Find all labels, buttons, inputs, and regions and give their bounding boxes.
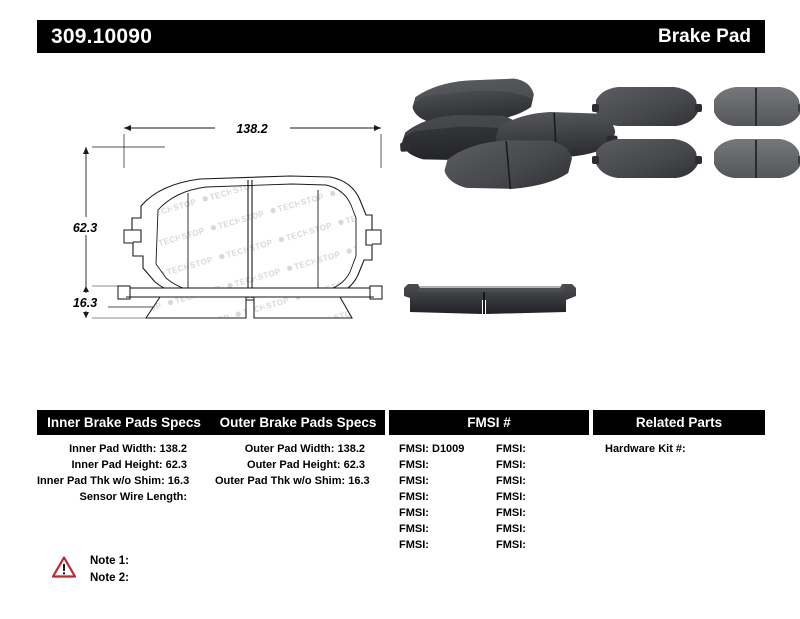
spec-row: Outer Pad Width: 138.2 bbox=[215, 441, 389, 457]
fmsi-subcolumn-2: FMSI: FMSI: FMSI: FMSI: FMSI: FMSI: FMSI… bbox=[496, 441, 593, 553]
column-related-parts: Hardware Kit #: bbox=[597, 441, 765, 553]
fmsi-row: FMSI: bbox=[399, 489, 496, 505]
fmsi-row: FMSI: bbox=[399, 521, 496, 537]
product-photo-angled bbox=[398, 74, 618, 195]
fmsi-row: FMSI: bbox=[399, 505, 496, 521]
header-inner-specs: Inner Brake Pads Specs bbox=[37, 415, 211, 430]
fmsi-row: FMSI: bbox=[399, 537, 496, 553]
spec-row: Inner Pad Height: 62.3 bbox=[37, 457, 211, 473]
fmsi-row: FMSI: bbox=[496, 521, 593, 537]
pad-face-drawing bbox=[124, 176, 381, 307]
width-dimension-label: 138.2 bbox=[236, 122, 267, 136]
fmsi-row: FMSI: D1009 bbox=[399, 441, 496, 457]
product-photo-flat-grid bbox=[592, 87, 800, 178]
specifications-table: Inner Brake Pads Specs Outer Brake Pads … bbox=[37, 410, 765, 553]
table-header-row: Inner Brake Pads Specs Outer Brake Pads … bbox=[37, 410, 765, 435]
header-related-parts: Related Parts bbox=[593, 410, 765, 435]
height-dimension-label: 62.3 bbox=[73, 221, 97, 235]
note-row: Note 2: bbox=[90, 570, 129, 587]
column-fmsi: FMSI: D1009 FMSI: FMSI: FMSI: FMSI: FMSI… bbox=[393, 441, 593, 553]
product-type: Brake Pad bbox=[658, 26, 751, 48]
spec-row: Inner Pad Width: 138.2 bbox=[37, 441, 211, 457]
column-outer-specs: Outer Pad Width: 138.2 Outer Pad Height:… bbox=[215, 441, 389, 553]
table-body-row: Inner Pad Width: 138.2 Inner Pad Height:… bbox=[37, 441, 765, 553]
header-inner-outer-group: Inner Brake Pads Specs Outer Brake Pads … bbox=[37, 410, 385, 435]
header-fmsi: FMSI # bbox=[389, 410, 589, 435]
spec-row: Outer Pad Thk w/o Shim: 16.3 bbox=[215, 473, 389, 489]
fmsi-row: FMSI: bbox=[496, 505, 593, 521]
fmsi-row: FMSI: bbox=[496, 489, 593, 505]
fmsi-row: FMSI: bbox=[496, 537, 593, 553]
warning-triangle-icon bbox=[52, 556, 76, 578]
spec-row: Inner Pad Thk w/o Shim: 16.3 bbox=[37, 473, 211, 489]
drawing-svg: STOP TECH bbox=[0, 60, 800, 390]
product-photo-edge bbox=[404, 284, 576, 314]
related-part-row: Hardware Kit #: bbox=[605, 441, 765, 457]
thickness-dimension-label: 16.3 bbox=[73, 296, 97, 310]
spec-row: Sensor Wire Length: bbox=[37, 489, 211, 505]
note-row: Note 1: bbox=[90, 553, 129, 570]
title-bar: 309.10090 Brake Pad bbox=[37, 20, 765, 53]
note-lines: Note 1: Note 2: bbox=[90, 553, 129, 587]
technical-drawing-area: STOP TECH bbox=[0, 60, 800, 390]
column-inner-specs: Inner Pad Width: 138.2 Inner Pad Height:… bbox=[37, 441, 211, 553]
fmsi-row: FMSI: bbox=[496, 473, 593, 489]
fmsi-row: FMSI: bbox=[399, 457, 496, 473]
pad-side-drawing bbox=[118, 286, 382, 318]
spec-row: Outer Pad Height: 62.3 bbox=[215, 457, 389, 473]
fmsi-subcolumn-1: FMSI: D1009 FMSI: FMSI: FMSI: FMSI: FMSI… bbox=[399, 441, 496, 553]
fmsi-row: FMSI: bbox=[496, 457, 593, 473]
part-number: 309.10090 bbox=[51, 25, 152, 49]
notes-section: Note 1: Note 2: bbox=[52, 553, 129, 587]
fmsi-row: FMSI: bbox=[399, 473, 496, 489]
header-outer-specs: Outer Brake Pads Specs bbox=[211, 415, 385, 430]
fmsi-row: FMSI: bbox=[496, 441, 593, 457]
